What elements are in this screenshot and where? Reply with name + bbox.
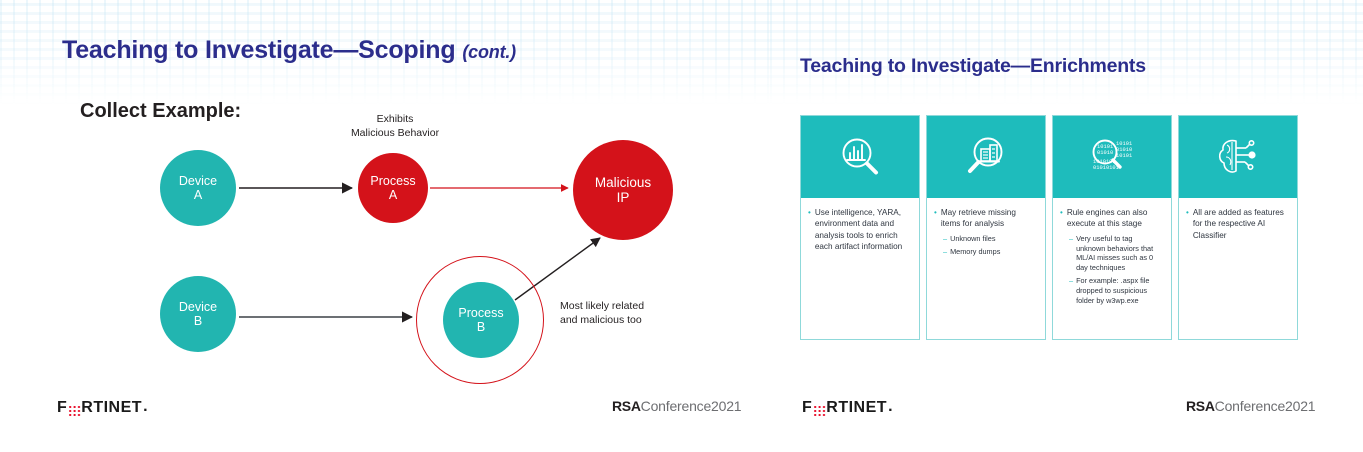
graph-note-exhibits: Exhibits Malicious Behavior: [330, 113, 460, 140]
scoping-graph: Device A Device B Process A Process B Ma…: [0, 0, 770, 400]
graph-node-process-a[interactable]: Process A: [358, 153, 428, 223]
page-title-enrichments: Teaching to Investigate—Enrichments: [800, 55, 1146, 78]
card-header: [1179, 116, 1297, 198]
fortinet-logo-post: RTINET: [81, 400, 142, 416]
magnifier-buildings-icon: [962, 133, 1010, 181]
card-sub-item: – Very useful to tag unknown behaviors t…: [1069, 234, 1163, 274]
graph-node-device-a[interactable]: Device A: [160, 150, 236, 226]
card-bullet: • Use intelligence, YARA, environment da…: [808, 207, 911, 252]
sub-dash-icon: –: [943, 234, 947, 244]
card-body: • All are added as features for the resp…: [1179, 198, 1297, 339]
bullet-dot-icon: •: [1060, 207, 1063, 230]
fortinet-logo-pre: F: [802, 400, 812, 416]
rsa-logo-rest: Conference2021: [1215, 398, 1316, 414]
card-bullet-text: May retrieve missing items for analysis: [941, 207, 1037, 230]
card-header: 10101 01010 10101 1010101 01010101 10101…: [1053, 116, 1171, 198]
fortinet-logo-pre: F: [57, 400, 67, 416]
card-header: [801, 116, 919, 198]
slide-scoping: Teaching to Investigate—Scoping(cont.) C…: [0, 0, 770, 452]
rsa-logo-bold: RSA: [612, 398, 641, 414]
card-body: • Use intelligence, YARA, environment da…: [801, 198, 919, 339]
bullet-dot-icon: •: [1186, 207, 1189, 241]
card-sub-item: – For example: .aspx file dropped to sus…: [1069, 276, 1163, 306]
fortinet-logo-dot: .: [888, 398, 892, 416]
card-sub-text: Unknown files: [950, 234, 995, 244]
enrichment-card-list: • Use intelligence, YARA, environment da…: [800, 115, 1298, 340]
card-header: [927, 116, 1045, 198]
svg-text:01010: 01010: [1097, 150, 1113, 156]
card-bullet-text: All are added as features for the respec…: [1193, 207, 1289, 241]
ai-brain-circuit-icon: [1214, 134, 1262, 180]
graph-node-process-b[interactable]: Process B: [443, 282, 519, 358]
enrichment-card[interactable]: • Use intelligence, YARA, environment da…: [800, 115, 920, 340]
enrichment-card[interactable]: 10101 01010 10101 1010101 01010101 10101…: [1052, 115, 1172, 340]
enrichment-card[interactable]: • May retrieve missing items for analysi…: [926, 115, 1046, 340]
sub-dash-icon: –: [1069, 276, 1073, 306]
fortinet-logo-o-icon: [813, 405, 826, 417]
enrichment-card[interactable]: • All are added as features for the resp…: [1178, 115, 1298, 340]
fortinet-logo-post: RTINET: [826, 400, 887, 416]
card-bullet: • May retrieve missing items for analysi…: [934, 207, 1037, 230]
graph-node-device-b[interactable]: Device B: [160, 276, 236, 352]
background-matrix-pattern-right: [770, 0, 1363, 105]
card-bullet-text: Rule engines can also execute at this st…: [1067, 207, 1163, 230]
fortinet-logo-dot: .: [143, 398, 147, 416]
magnifier-bar-chart-icon: [836, 133, 884, 181]
svg-text:01010101: 01010101: [1093, 165, 1119, 171]
card-sub-text: For example: .aspx file dropped to suspi…: [1076, 276, 1163, 306]
rsa-logo-rest: Conference2021: [641, 398, 742, 414]
card-sub-text: Memory dumps: [950, 247, 1000, 257]
card-bullet: • All are added as features for the resp…: [1186, 207, 1289, 241]
graph-node-malicious-ip[interactable]: Malicious IP: [573, 140, 673, 240]
card-sub-list: – Unknown files – Memory dumps: [943, 234, 1037, 257]
rsa-logo-bold: RSA: [1186, 398, 1215, 414]
card-bullet: • Rule engines can also execute at this …: [1060, 207, 1163, 230]
graph-note-most-likely-related: Most likely related and malicious too: [560, 300, 720, 327]
rsa-conference-logo-left: RSAConference2021: [612, 398, 741, 414]
magnifier-binary-icon: 10101 01010 10101 1010101 01010101 10101…: [1087, 133, 1137, 181]
sub-dash-icon: –: [943, 247, 947, 257]
sub-dash-icon: –: [1069, 234, 1073, 274]
fortinet-logo-left: FRTINET.: [57, 398, 148, 416]
svg-text:10101: 10101: [1116, 153, 1132, 159]
card-body: • May retrieve missing items for analysi…: [927, 198, 1045, 339]
card-sub-text: Very useful to tag unknown behaviors tha…: [1076, 234, 1163, 274]
bullet-dot-icon: •: [934, 207, 937, 230]
card-sub-item: – Memory dumps: [943, 247, 1037, 257]
bullet-dot-icon: •: [808, 207, 811, 252]
fortinet-logo-right: FRTINET.: [802, 398, 893, 416]
rsa-conference-logo-right: RSAConference2021: [1186, 398, 1315, 414]
slide-enrichments: Teaching to Investigate—Enrichments • Us: [770, 0, 1363, 452]
fortinet-logo-o-icon: [68, 405, 81, 417]
card-sub-list: – Very useful to tag unknown behaviors t…: [1069, 234, 1163, 306]
card-sub-item: – Unknown files: [943, 234, 1037, 244]
card-bullet-text: Use intelligence, YARA, environment data…: [815, 207, 911, 252]
card-body: • Rule engines can also execute at this …: [1053, 198, 1171, 339]
